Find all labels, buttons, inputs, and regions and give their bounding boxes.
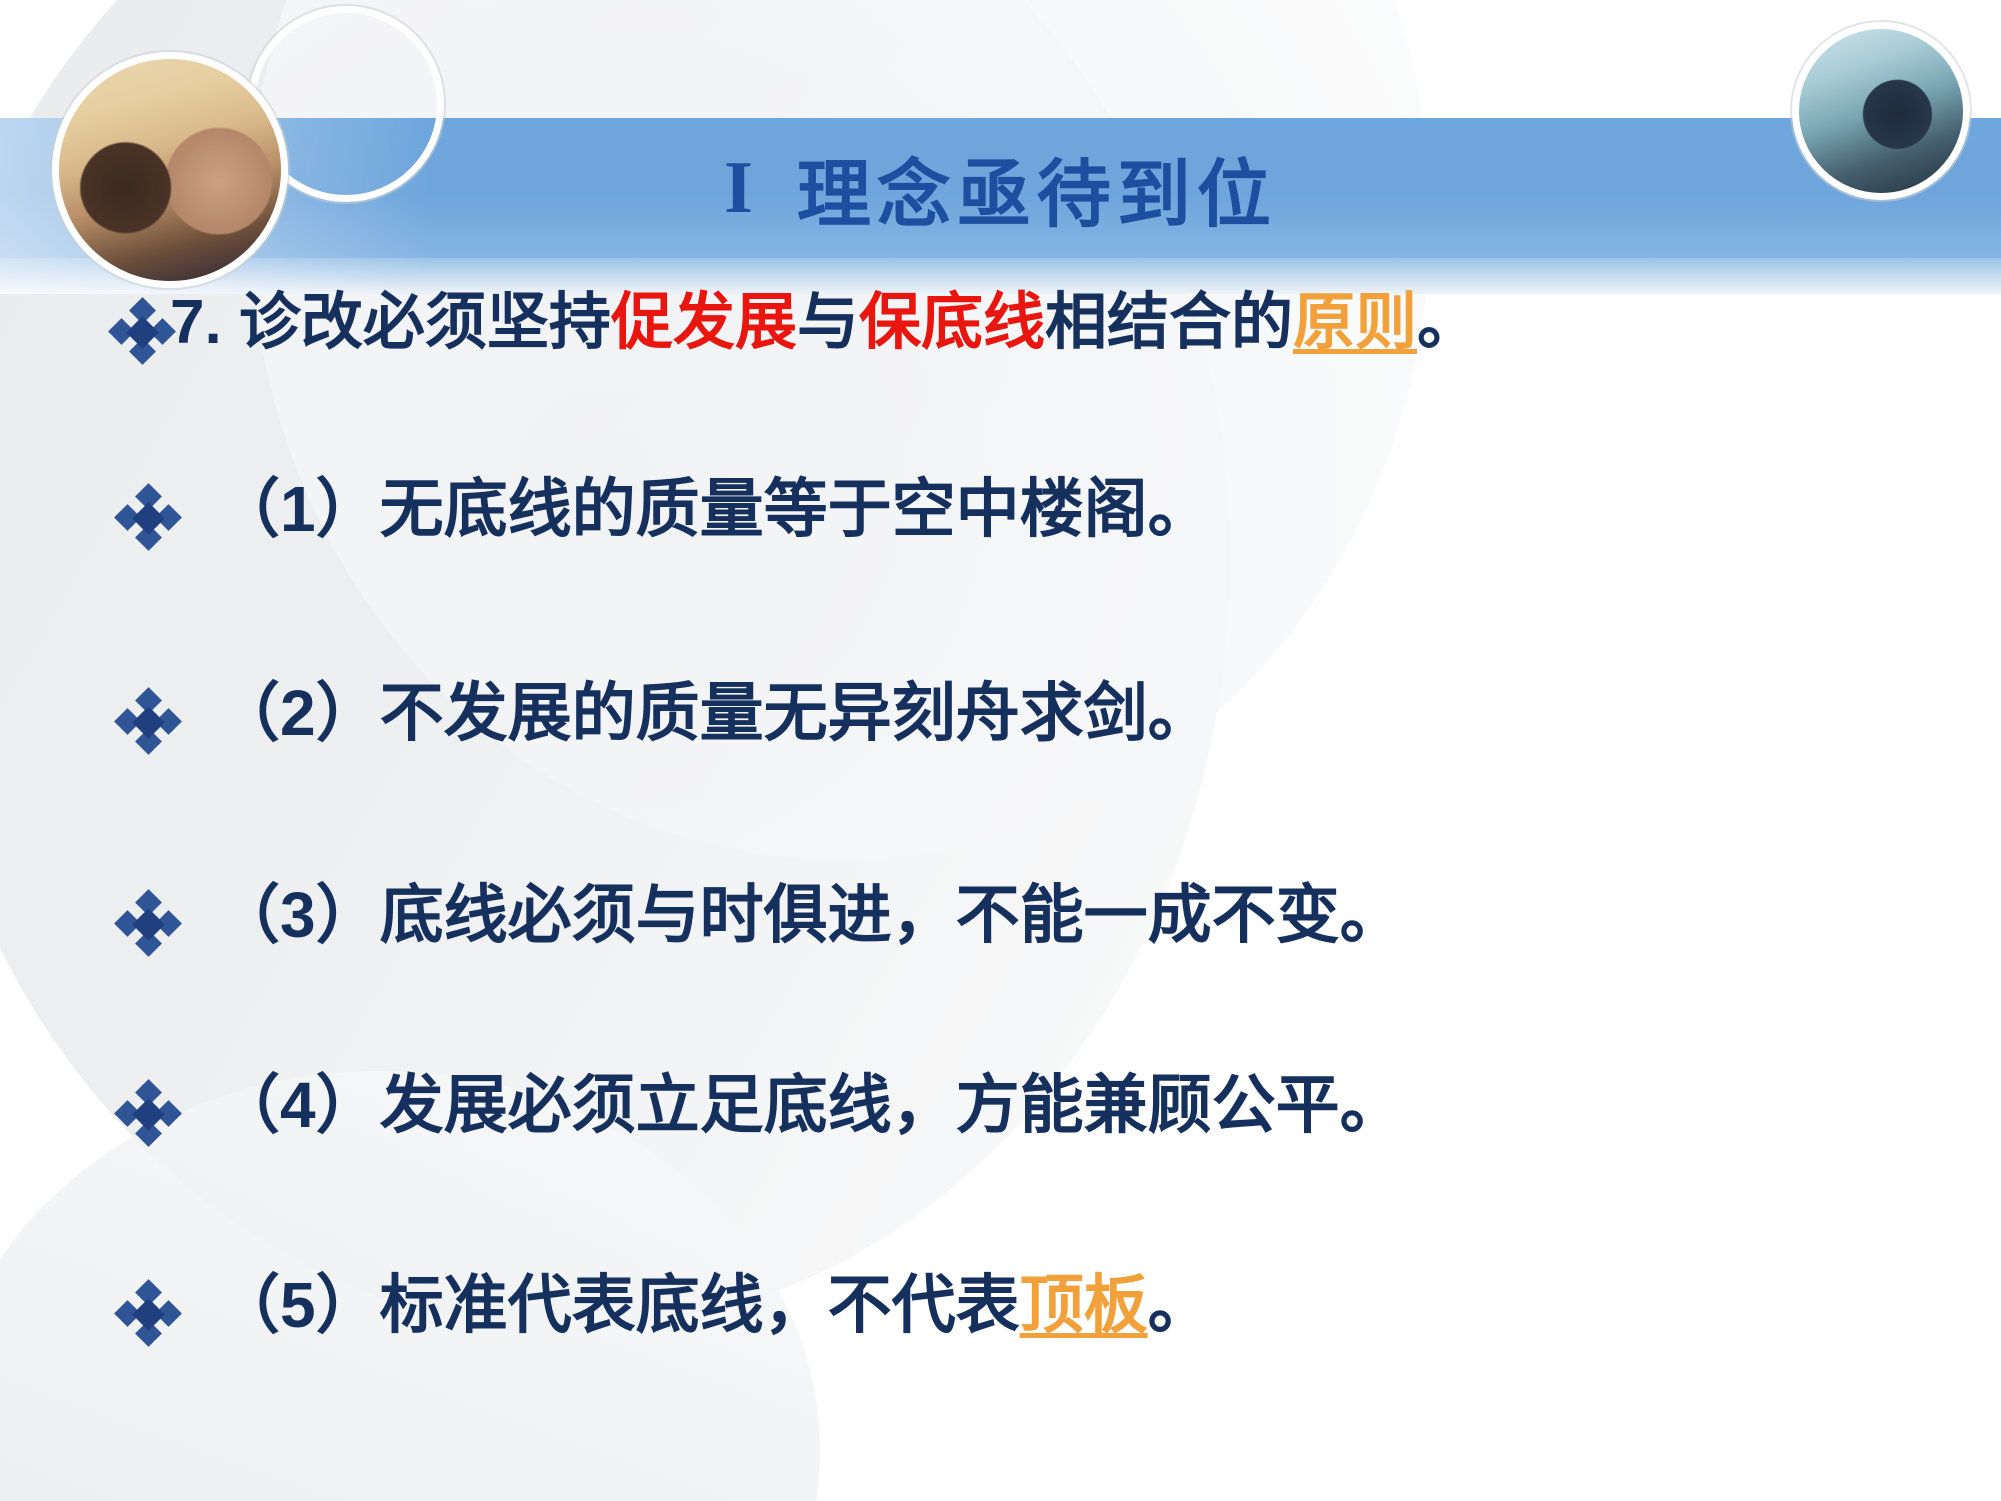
heading-middle: 与 [797,288,859,357]
photo-circle-main-left-icon [52,52,288,288]
diamond-bullet-icon [118,894,176,952]
diamond-bullet-icon [112,302,170,360]
list-item-text: （4）发展必须立足底线，方能兼顾公平。 [176,1072,1404,1139]
title-numeral: I [724,146,759,231]
list-item-label: （5） [216,1269,380,1341]
diamond-bullet-icon [118,1284,176,1342]
bullet-row-heading: 7. 诊改必须坚持促发展与保底线相结合的原则。 [112,290,1479,360]
heading-highlight-orange: 原则 [1293,288,1417,357]
diamond-bullet-icon [118,692,176,750]
diamond-bullet-icon [118,488,176,546]
bullet-row-item-3: （3）底线必须与时俱进，不能一成不变。 [118,882,1404,952]
list-item-body: 不发展的质量无异刻舟求剑。 [380,677,1212,749]
heading-highlight-red-1: 促发展 [611,288,797,357]
list-item-body-before: 标准代表底线，不代表 [380,1269,1020,1341]
list-item-text: （1）无底线的质量等于空中楼阁。 [176,476,1212,543]
list-item-body: 发展必须立足底线，方能兼顾公平。 [380,1069,1404,1141]
list-item-label: （3） [216,879,380,951]
heading-prefix: 7. 诊改必须坚持 [170,288,611,357]
presentation-slide: I 理念亟待到位 7. 诊改必须坚持促发展与保底线相结合的原则。 （1）无底线的… [0,0,2001,1501]
list-item-highlight-orange: 顶板 [1020,1269,1148,1341]
bullet-row-item-4: （4）发展必须立足底线，方能兼顾公平。 [118,1072,1404,1142]
bullet-row-item-1: （1）无底线的质量等于空中楼阁。 [118,476,1212,546]
list-item-text: （3）底线必须与时俱进，不能一成不变。 [176,882,1404,949]
list-item-label: （4） [216,1069,380,1141]
list-item-text: （5）标准代表底线，不代表顶板。 [176,1272,1212,1339]
photo-circle-right-icon [1792,22,1970,200]
list-item-label: （2） [216,677,380,749]
list-item-body: 无底线的质量等于空中楼阁。 [380,473,1212,545]
bullet-row-item-5: （5）标准代表底线，不代表顶板。 [118,1272,1212,1342]
list-item-body: 底线必须与时俱进，不能一成不变。 [380,879,1404,951]
heading-line-text: 7. 诊改必须坚持促发展与保底线相结合的原则。 [170,290,1479,355]
list-item-body-after: 。 [1148,1269,1212,1341]
list-item-label: （1） [216,473,380,545]
bullet-row-item-2: （2）不发展的质量无异刻舟求剑。 [118,680,1212,750]
list-item-text: （2）不发展的质量无异刻舟求剑。 [176,680,1212,747]
heading-highlight-red-2: 保底线 [859,288,1045,357]
heading-after: 相结合的 [1045,288,1293,357]
heading-period: 。 [1417,288,1479,357]
diamond-bullet-icon [118,1084,176,1142]
title-text: 理念亟待到位 [797,135,1277,242]
